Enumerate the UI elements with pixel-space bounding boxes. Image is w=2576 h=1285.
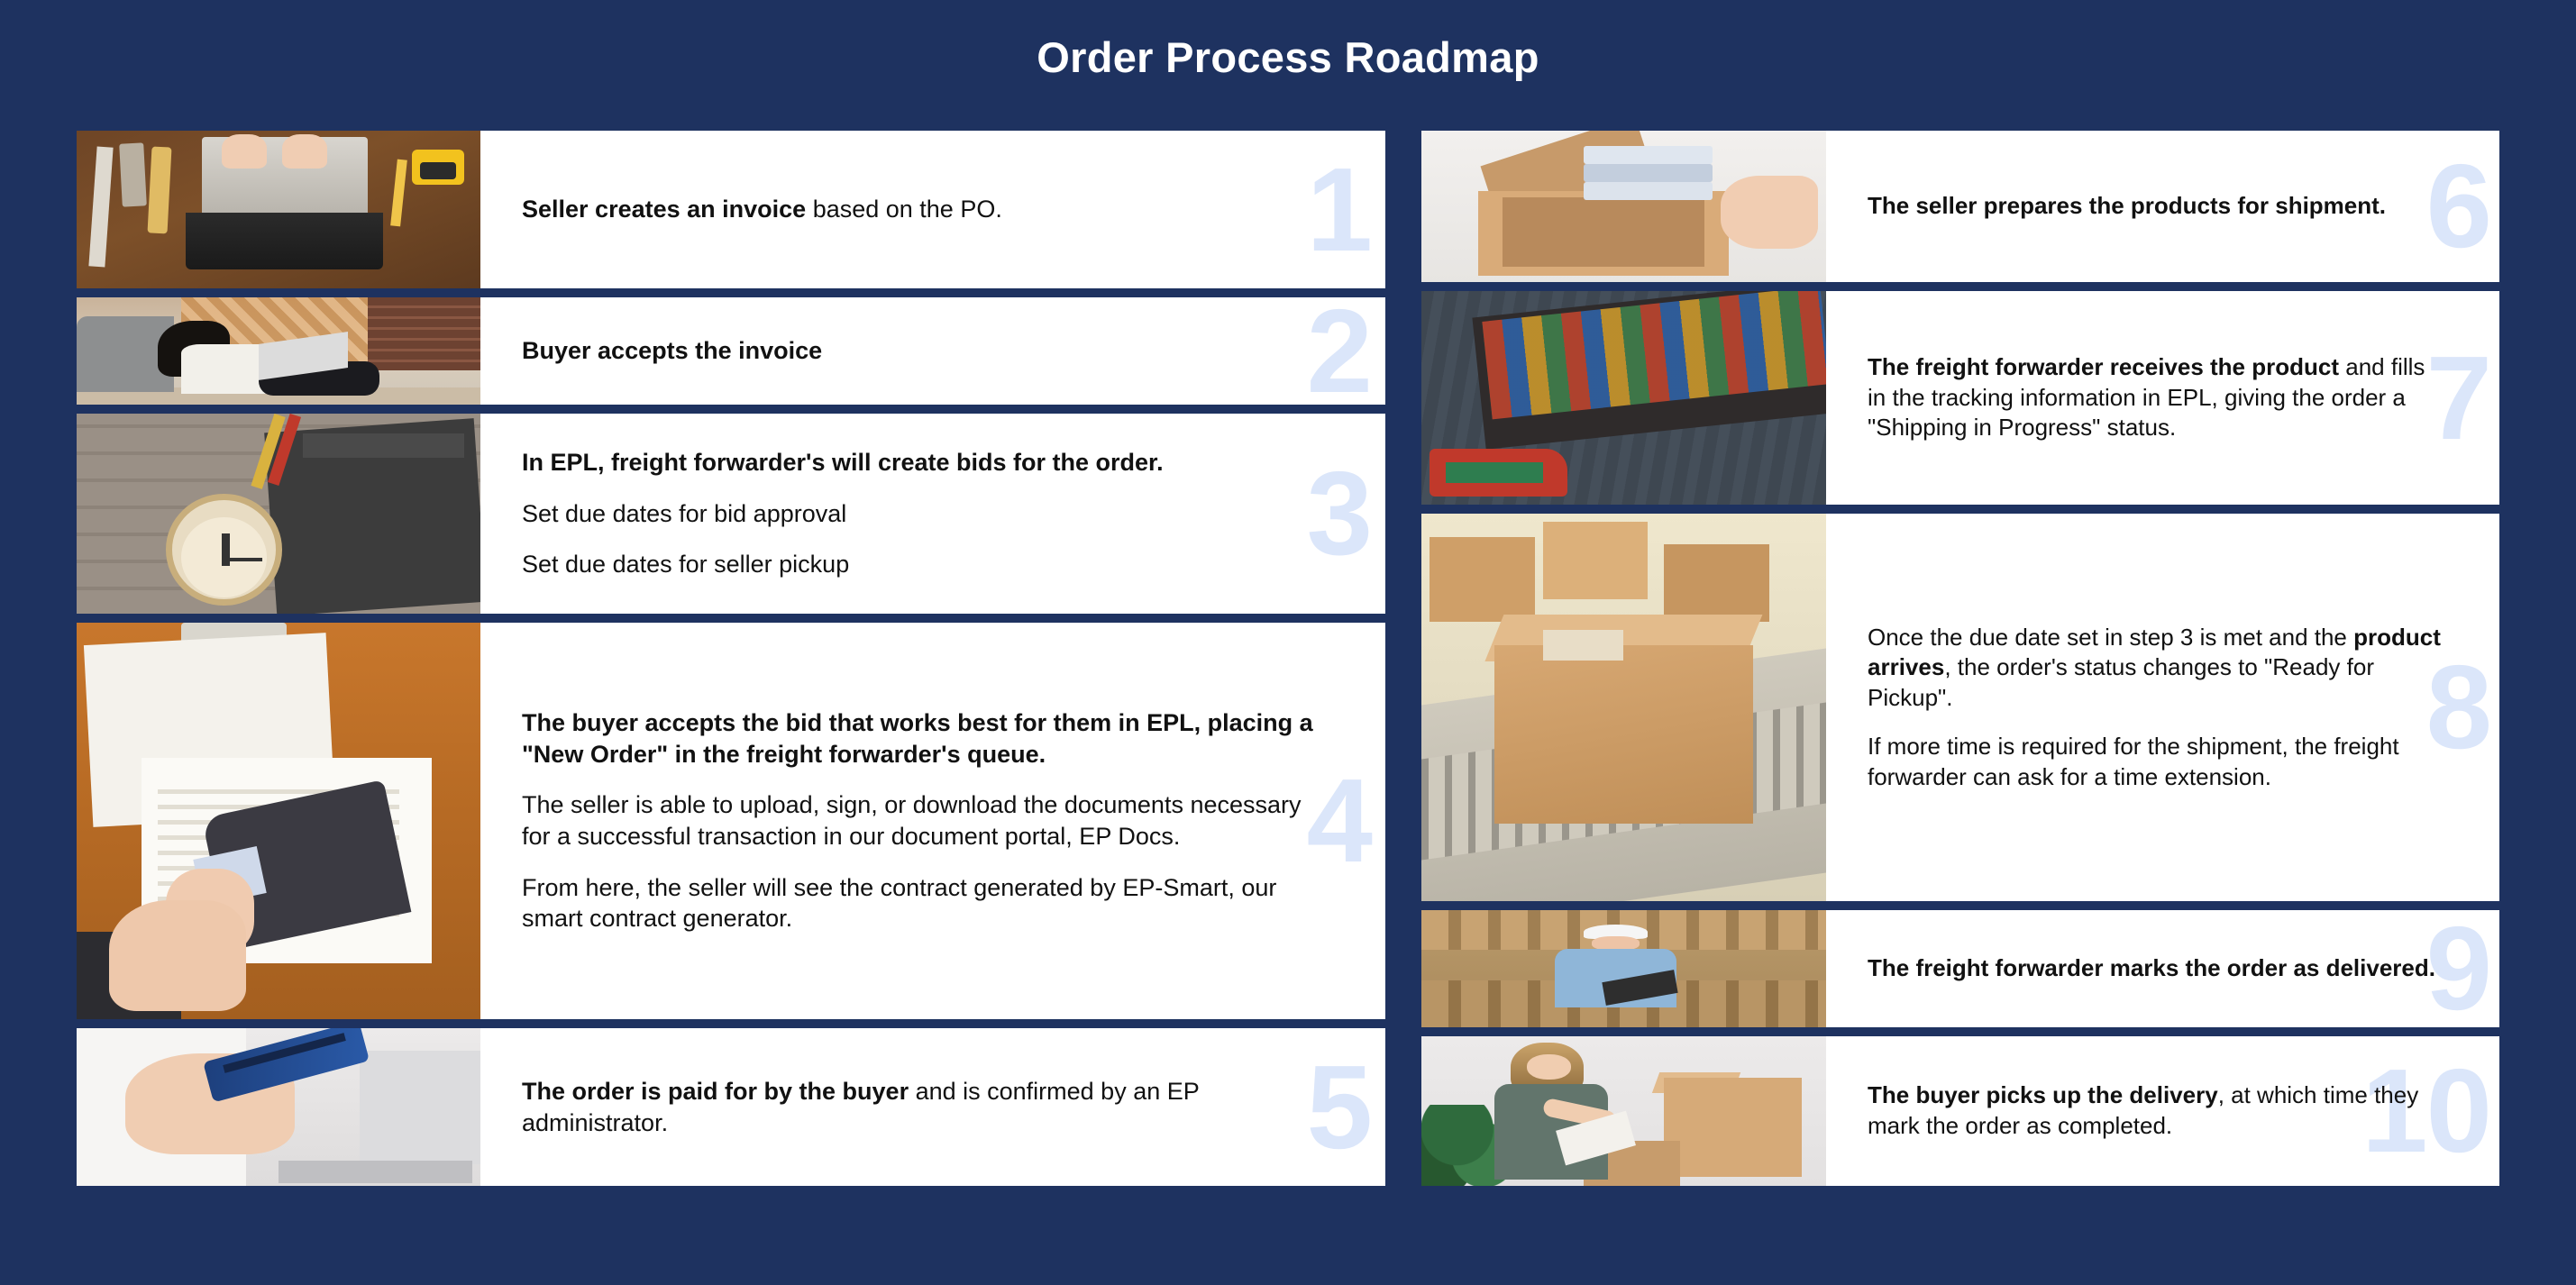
step-text-line: Once the due date set in step 3 is met a… — [1868, 623, 2449, 714]
step-text-line: The seller is able to upload, sign, or d… — [522, 789, 1322, 852]
step-image-5 — [77, 1028, 480, 1186]
step-text-line: Buyer accepts the invoice — [522, 335, 1322, 367]
step-body-10: 10 The buyer picks up the delivery, at w… — [1826, 1036, 2499, 1186]
step-image-2 — [77, 297, 480, 405]
step-body-9: 9 The freight forwarder marks the order … — [1826, 910, 2499, 1027]
step-text-rest: Once the due date set in step 3 is met a… — [1868, 624, 2353, 651]
step-text-bold: The order is paid for by the buyer — [522, 1078, 909, 1105]
step-text-rest: The seller is able to upload, sign, or d… — [522, 791, 1302, 850]
step-text-line: In EPL, freight forwarder's will create … — [522, 447, 1322, 478]
step-card-4[interactable]: 4 The buyer accepts the bid that works b… — [77, 623, 1385, 1019]
step-text-line: Set due dates for seller pickup — [522, 549, 1322, 580]
step-text-line: The freight forwarder receives the produ… — [1868, 352, 2449, 443]
step-image-3 — [77, 414, 480, 614]
step-card-10[interactable]: 10 The buyer picks up the delivery, at w… — [1421, 1036, 2499, 1186]
step-image-8 — [1421, 514, 1826, 901]
step-card-3[interactable]: 3 In EPL, freight forwarder's will creat… — [77, 414, 1385, 614]
step-text-bold: In EPL, freight forwarder's will create … — [522, 449, 1164, 476]
step-text-bold: The buyer accepts the bid that works bes… — [522, 709, 1313, 768]
step-card-9[interactable]: 9 The freight forwarder marks the order … — [1421, 910, 2499, 1027]
step-text-line: The seller prepares the products for shi… — [1868, 191, 2449, 222]
roadmap-page: Order Process Roadmap 1 Seller creates a… — [0, 0, 2576, 1285]
step-image-9 — [1421, 910, 1826, 1027]
step-text-line: The freight forwarder marks the order as… — [1868, 953, 2449, 984]
step-text-line: From here, the seller will see the contr… — [522, 872, 1322, 934]
step-text-rest: From here, the seller will see the contr… — [522, 874, 1276, 933]
step-text-rest: Set due dates for seller pickup — [522, 551, 849, 578]
step-text-line: If more time is required for the shipmen… — [1868, 732, 2449, 793]
step-text-line: The buyer picks up the delivery, at whic… — [1868, 1080, 2449, 1142]
step-body-5: 5 The order is paid for by the buyer and… — [480, 1028, 1385, 1186]
step-image-6 — [1421, 131, 1826, 282]
step-card-8[interactable]: 8 Once the due date set in step 3 is met… — [1421, 514, 2499, 901]
step-text-tail: , the order's status changes to "Ready f… — [1868, 653, 2374, 711]
step-body-4: 4 The buyer accepts the bid that works b… — [480, 623, 1385, 1019]
step-card-1[interactable]: 1 Seller creates an invoice based on the… — [77, 131, 1385, 288]
step-body-2: 2 Buyer accepts the invoice — [480, 297, 1385, 405]
step-image-4 — [77, 623, 480, 1019]
right-column: 6 The seller prepares the products for s… — [1421, 131, 2499, 1195]
step-body-7: 7 The freight forwarder receives the pro… — [1826, 291, 2499, 505]
step-image-7 — [1421, 291, 1826, 505]
step-text-bold: The seller prepares the products for shi… — [1868, 192, 2386, 219]
step-body-8: 8 Once the due date set in step 3 is met… — [1826, 514, 2499, 901]
step-image-10 — [1421, 1036, 1826, 1186]
step-card-2[interactable]: 2 Buyer accepts the invoice — [77, 297, 1385, 405]
step-card-5[interactable]: 5 The order is paid for by the buyer and… — [77, 1028, 1385, 1186]
step-card-6[interactable]: 6 The seller prepares the products for s… — [1421, 131, 2499, 282]
step-text-bold: The buyer picks up the delivery — [1868, 1081, 2218, 1108]
step-image-1 — [77, 131, 480, 288]
step-text-bold: The freight forwarder marks the order as… — [1868, 954, 2435, 981]
step-text-line: The buyer accepts the bid that works bes… — [522, 707, 1322, 770]
step-text-bold: The freight forwarder receives the produ… — [1868, 353, 2339, 380]
page-title: Order Process Roadmap — [0, 32, 2576, 82]
step-body-6: 6 The seller prepares the products for s… — [1826, 131, 2499, 282]
step-text-line: The order is paid for by the buyer and i… — [522, 1076, 1322, 1138]
step-text-rest: If more time is required for the shipmen… — [1868, 733, 2399, 790]
left-column: 1 Seller creates an invoice based on the… — [77, 131, 1385, 1195]
step-text-bold: Buyer accepts the invoice — [522, 337, 822, 364]
step-text-line: Set due dates for bid approval — [522, 498, 1322, 530]
step-card-7[interactable]: 7 The freight forwarder receives the pro… — [1421, 291, 2499, 505]
step-body-3: 3 In EPL, freight forwarder's will creat… — [480, 414, 1385, 614]
step-text-line: Seller creates an invoice based on the P… — [522, 194, 1322, 225]
step-text-rest: Set due dates for bid approval — [522, 500, 846, 527]
step-body-1: 1 Seller creates an invoice based on the… — [480, 131, 1385, 288]
step-text-bold: Seller creates an invoice — [522, 196, 806, 223]
step-text-rest: based on the PO. — [806, 196, 1002, 223]
